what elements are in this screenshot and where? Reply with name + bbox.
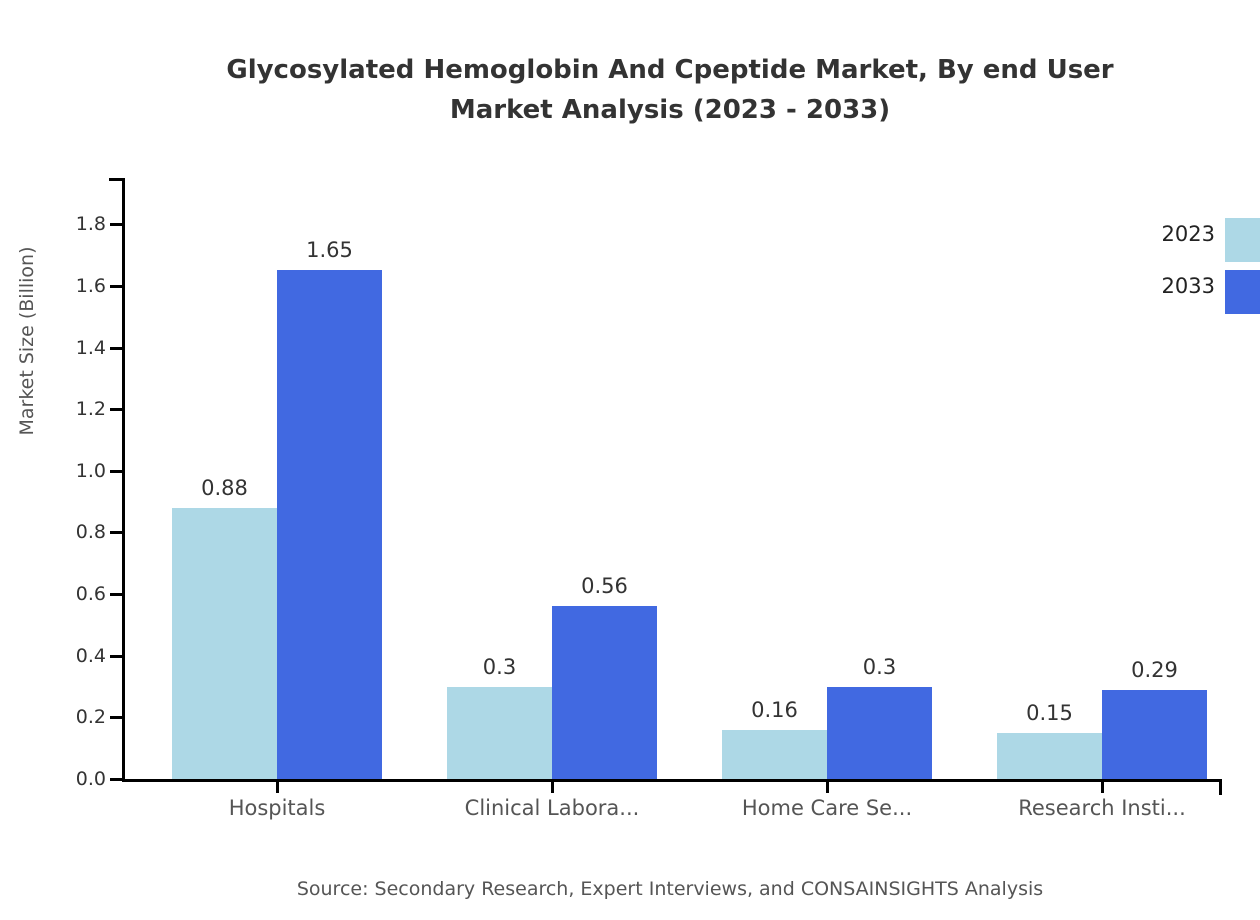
- bar-2023-1[interactable]: [172, 508, 277, 779]
- y-axis-tick-mark: [110, 655, 122, 658]
- y-axis-title: Market Size (Billion): [16, 196, 38, 486]
- y-axis-tick-label: 0.0: [76, 768, 106, 790]
- bar-value-label: 0.56: [581, 574, 628, 598]
- bar-2023-4[interactable]: [997, 733, 1102, 779]
- x-axis-tick-label: Research Insti...: [1018, 796, 1186, 820]
- y-axis-tick-label: 1.8: [76, 213, 106, 235]
- chart-figure: Glycosylated Hemoglobin And Cpeptide Mar…: [0, 0, 1260, 920]
- y-axis-tick-label: 1.4: [76, 337, 106, 359]
- legend-label: 2033: [1140, 274, 1215, 298]
- legend-item-2023[interactable]: 2023: [1140, 218, 1260, 270]
- bar-2033-3[interactable]: [827, 687, 932, 779]
- y-axis-tick-mark: [110, 716, 122, 719]
- legend-swatch: [1225, 270, 1260, 314]
- bar-value-label: 0.29: [1131, 658, 1178, 682]
- y-axis-tick-label: 0.8: [76, 521, 106, 543]
- plot-area: 0.00.20.40.60.81.01.21.41.61.8 Hospitals…: [122, 178, 1222, 782]
- legend-swatch: [1225, 218, 1260, 262]
- bar-2033-1[interactable]: [277, 270, 382, 779]
- bar-value-label: 0.3: [483, 655, 516, 679]
- chart-legend: 20232033: [1140, 218, 1260, 322]
- bar-2033-4[interactable]: [1102, 690, 1207, 779]
- x-axis-right-cap: [1219, 779, 1222, 795]
- x-axis-tick-mark: [276, 782, 279, 793]
- bar-2023-2[interactable]: [447, 687, 552, 779]
- y-axis-tick-mark: [110, 470, 122, 473]
- x-axis-tick-mark: [1101, 782, 1104, 793]
- bar-2033-2[interactable]: [552, 606, 657, 779]
- x-axis-tick-mark: [551, 782, 554, 793]
- x-axis-tick-label: Home Care Se...: [742, 796, 912, 820]
- chart-title-line-2: Market Analysis (2023 - 2033): [450, 95, 890, 125]
- source-note: Source: Secondary Research, Expert Inter…: [0, 878, 1260, 900]
- chart-title-line-1: Glycosylated Hemoglobin And Cpeptide Mar…: [226, 55, 1113, 85]
- y-axis-tick-mark: [110, 223, 122, 226]
- chart-title: Glycosylated Hemoglobin And Cpeptide Mar…: [0, 50, 1260, 130]
- y-axis-tick-mark: [110, 531, 122, 534]
- x-axis-tick-mark: [826, 782, 829, 793]
- bar-value-label: 0.88: [201, 476, 248, 500]
- x-axis-tick-label: Clinical Labora...: [465, 796, 640, 820]
- bar-value-label: 1.65: [306, 238, 353, 262]
- y-axis-tick-mark: [110, 778, 122, 781]
- x-axis-spine: [122, 779, 1222, 782]
- y-axis-tick-mark: [110, 408, 122, 411]
- y-axis-spine: [122, 178, 125, 782]
- y-axis-tick-label: 0.6: [76, 583, 106, 605]
- y-axis-tick-mark: [110, 285, 122, 288]
- y-axis-tick-label: 1.2: [76, 398, 106, 420]
- y-axis-tick-label: 0.4: [76, 645, 106, 667]
- y-axis-top-cap: [109, 178, 125, 181]
- bar-2023-3[interactable]: [722, 730, 827, 779]
- x-axis-tick-label: Hospitals: [229, 796, 326, 820]
- y-axis-tick-mark: [110, 347, 122, 350]
- legend-item-2033[interactable]: 2033: [1140, 270, 1260, 322]
- y-axis-tick-label: 0.2: [76, 706, 106, 728]
- bar-value-label: 0.3: [863, 655, 896, 679]
- bar-value-label: 0.15: [1026, 701, 1073, 725]
- y-axis-tick-label: 1.0: [76, 460, 106, 482]
- y-axis-tick-label: 1.6: [76, 275, 106, 297]
- legend-label: 2023: [1140, 222, 1215, 246]
- y-axis-tick-mark: [110, 593, 122, 596]
- bar-value-label: 0.16: [751, 698, 798, 722]
